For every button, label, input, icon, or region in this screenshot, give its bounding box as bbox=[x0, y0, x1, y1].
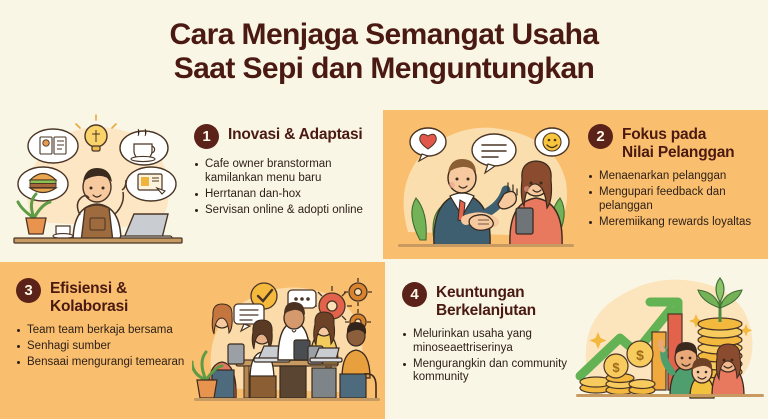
handshake-customer-illustration bbox=[390, 112, 582, 257]
panel-4-title-line-1: Keuntungan bbox=[436, 284, 524, 301]
panel-1-title-text: Inovasi & Adaptasi bbox=[228, 126, 363, 143]
panel-3-heading: 3 Efisiensi & Kolaborasi bbox=[16, 278, 188, 315]
panel-4-text: 4 Keuntungan Berkelanjutan Melurinkan us… bbox=[402, 282, 580, 387]
list-item: Team team berkaja bersama bbox=[16, 324, 188, 338]
panel-2-title: Fokus pada Nilai Pelanggan bbox=[622, 124, 734, 161]
list-item: Cafe owner branstorman kamilankan menu b… bbox=[194, 158, 374, 185]
growth-chart-family-illustration: $ $ bbox=[574, 266, 766, 416]
panel-4-title-line-2: Berkelanjutan bbox=[436, 302, 536, 319]
panel-3-bullet-list: Team team berkaja bersama Senhagi sumber… bbox=[16, 324, 188, 370]
infographic-canvas: Cara Menjaga Semangat Usaha Saat Sepi da… bbox=[0, 0, 768, 419]
panel-4-bullet-list: Melurinkan usaha yang minoseaettriseriny… bbox=[402, 328, 580, 385]
panel-4-heading: 4 Keuntungan Berkelanjutan bbox=[402, 282, 580, 319]
panel-2-heading: 2 Fokus pada Nilai Pelanggan bbox=[588, 124, 760, 161]
panel-1-bullet-list: Cafe owner branstorman kamilankan menu b… bbox=[194, 158, 374, 217]
list-item: Meremiikang rewards loyaltas bbox=[588, 216, 760, 230]
list-item: Servisan online & adopti online bbox=[194, 204, 374, 218]
panel-1-text: 1 Inovasi & Adaptasi Cafe owner branstor… bbox=[194, 124, 374, 220]
list-item: Mengurangkin dan community kommunity bbox=[402, 358, 580, 385]
panel-1-title: Inovasi & Adaptasi bbox=[228, 124, 363, 144]
panel-4-number-badge: 4 bbox=[402, 282, 427, 307]
list-item: Mengupari feedback dan pelanggan bbox=[588, 186, 760, 213]
panel-2-bullet-list: Menaenarkan pelanggan Mengupari feedback… bbox=[588, 170, 760, 229]
panel-2-number-badge: 2 bbox=[588, 124, 613, 149]
panel-4-title: Keuntungan Berkelanjutan bbox=[436, 282, 536, 319]
svg-text:$: $ bbox=[636, 347, 644, 363]
panel-1-number-badge: 1 bbox=[194, 124, 219, 149]
title-line-1: Cara Menjaga Semangat Usaha bbox=[0, 18, 768, 52]
svg-text:$: $ bbox=[612, 360, 620, 375]
panel-2-text: 2 Fokus pada Nilai Pelanggan Menaenarkan… bbox=[588, 124, 760, 232]
panel-3-title-line-2: Kolaborasi bbox=[50, 298, 128, 315]
cafe-owner-ideas-illustration bbox=[10, 110, 186, 255]
list-item: Menaenarkan pelanggan bbox=[588, 170, 760, 184]
panel-3-title: Efisiensi & Kolaborasi bbox=[50, 278, 128, 315]
panel-2-title-line-1: Fokus pada bbox=[622, 126, 706, 143]
panel-3-title-line-1: Efisiensi & bbox=[50, 280, 127, 297]
team-collaboration-illustration bbox=[192, 270, 382, 416]
panel-1-heading: 1 Inovasi & Adaptasi bbox=[194, 124, 374, 149]
list-item: Melurinkan usaha yang minoseaettriseriny… bbox=[402, 328, 580, 355]
page-title: Cara Menjaga Semangat Usaha Saat Sepi da… bbox=[0, 18, 768, 86]
panel-2-title-line-2: Nilai Pelanggan bbox=[622, 144, 734, 161]
title-line-2: Saat Sepi dan Menguntungkan bbox=[0, 52, 768, 86]
list-item: Herrtanan dan-hox bbox=[194, 188, 374, 202]
list-item: Bensaai mengurangi temearan bbox=[16, 356, 188, 370]
panel-3-number-badge: 3 bbox=[16, 278, 41, 303]
panel-3-text: 3 Efisiensi & Kolaborasi Team team berka… bbox=[16, 278, 188, 372]
list-item: Senhagi sumber bbox=[16, 340, 188, 354]
